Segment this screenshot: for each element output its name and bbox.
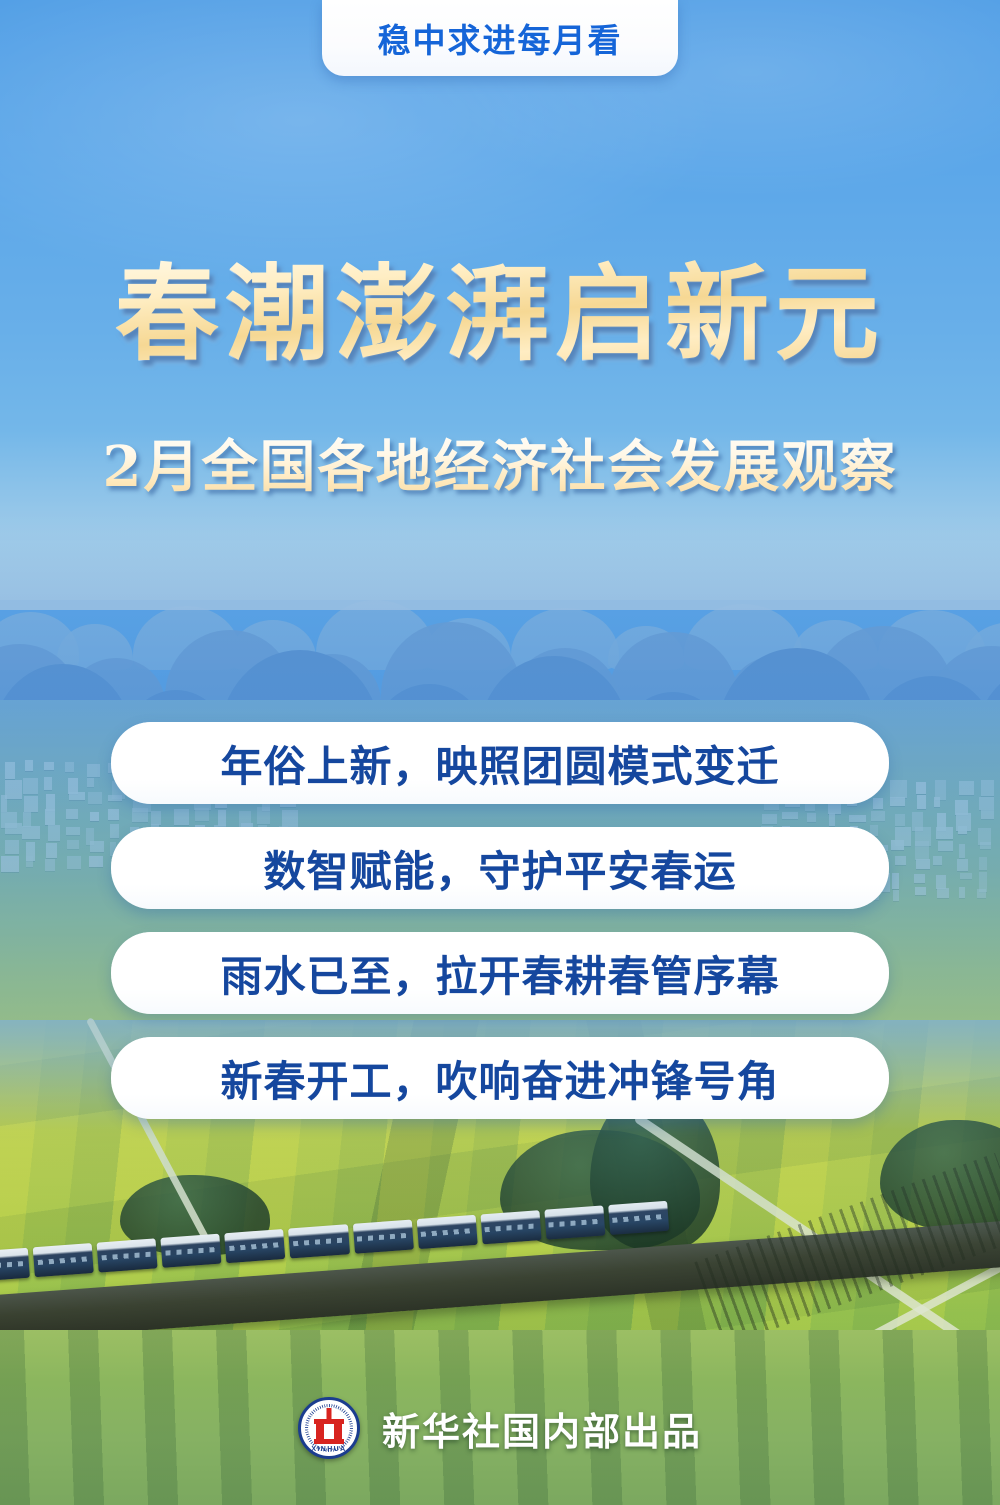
- train-car: [97, 1238, 158, 1272]
- topic-card-1[interactable]: 年俗上新，映照团圆模式变迁: [111, 722, 889, 804]
- logo-wordmark: XINHUA: [301, 1446, 357, 1453]
- badge-label: 稳中求进每月看: [378, 14, 623, 62]
- hero-titles: 春潮澎湃启新元 2月全国各地经济社会发展观察: [0, 258, 1000, 503]
- topic-card-label: 雨水已至，拉开春耕春管序幕: [220, 943, 779, 1004]
- train-car: [289, 1224, 350, 1258]
- train-car: [33, 1243, 94, 1277]
- train-car: [480, 1210, 541, 1244]
- train-car: [161, 1234, 222, 1268]
- page-title: 春潮澎湃启新元: [0, 258, 1000, 370]
- poster-root: 稳中求进每月看 春潮澎湃启新元 2月全国各地经济社会发展观察 年俗上新，映照团圆…: [0, 0, 1000, 1505]
- footer: XINHUA 新华社国内部出品: [0, 1397, 1000, 1459]
- topic-card-label: 新春开工，吹响奋进冲锋号角: [220, 1048, 779, 1109]
- topic-card-2[interactable]: 数智赋能，守护平安春运: [111, 827, 889, 909]
- topic-card-3[interactable]: 雨水已至，拉开春耕春管序幕: [111, 932, 889, 1014]
- train-car: [225, 1229, 286, 1263]
- pagoda-tower-icon: [314, 1408, 344, 1444]
- train-car: [416, 1215, 477, 1249]
- xinhua-logo-icon: XINHUA: [298, 1397, 360, 1459]
- top-series-badge[interactable]: 稳中求进每月看: [322, 0, 678, 76]
- train-car: [352, 1220, 413, 1254]
- topic-card-label: 年俗上新，映照团圆模式变迁: [220, 733, 779, 794]
- page-subtitle: 2月全国各地经济社会发展观察: [0, 422, 1000, 503]
- train-car: [544, 1205, 605, 1239]
- train-car: [0, 1248, 30, 1282]
- topic-card-label: 数智赋能，守护平安春运: [263, 838, 736, 899]
- topic-card-4[interactable]: 新春开工，吹响奋进冲锋号角: [111, 1037, 889, 1119]
- topic-card-list: 年俗上新，映照团圆模式变迁数智赋能，守护平安春运雨水已至，拉开春耕春管序幕新春开…: [0, 722, 1000, 1142]
- footer-credit: 新华社国内部出品: [382, 1401, 702, 1456]
- train-car: [608, 1201, 669, 1235]
